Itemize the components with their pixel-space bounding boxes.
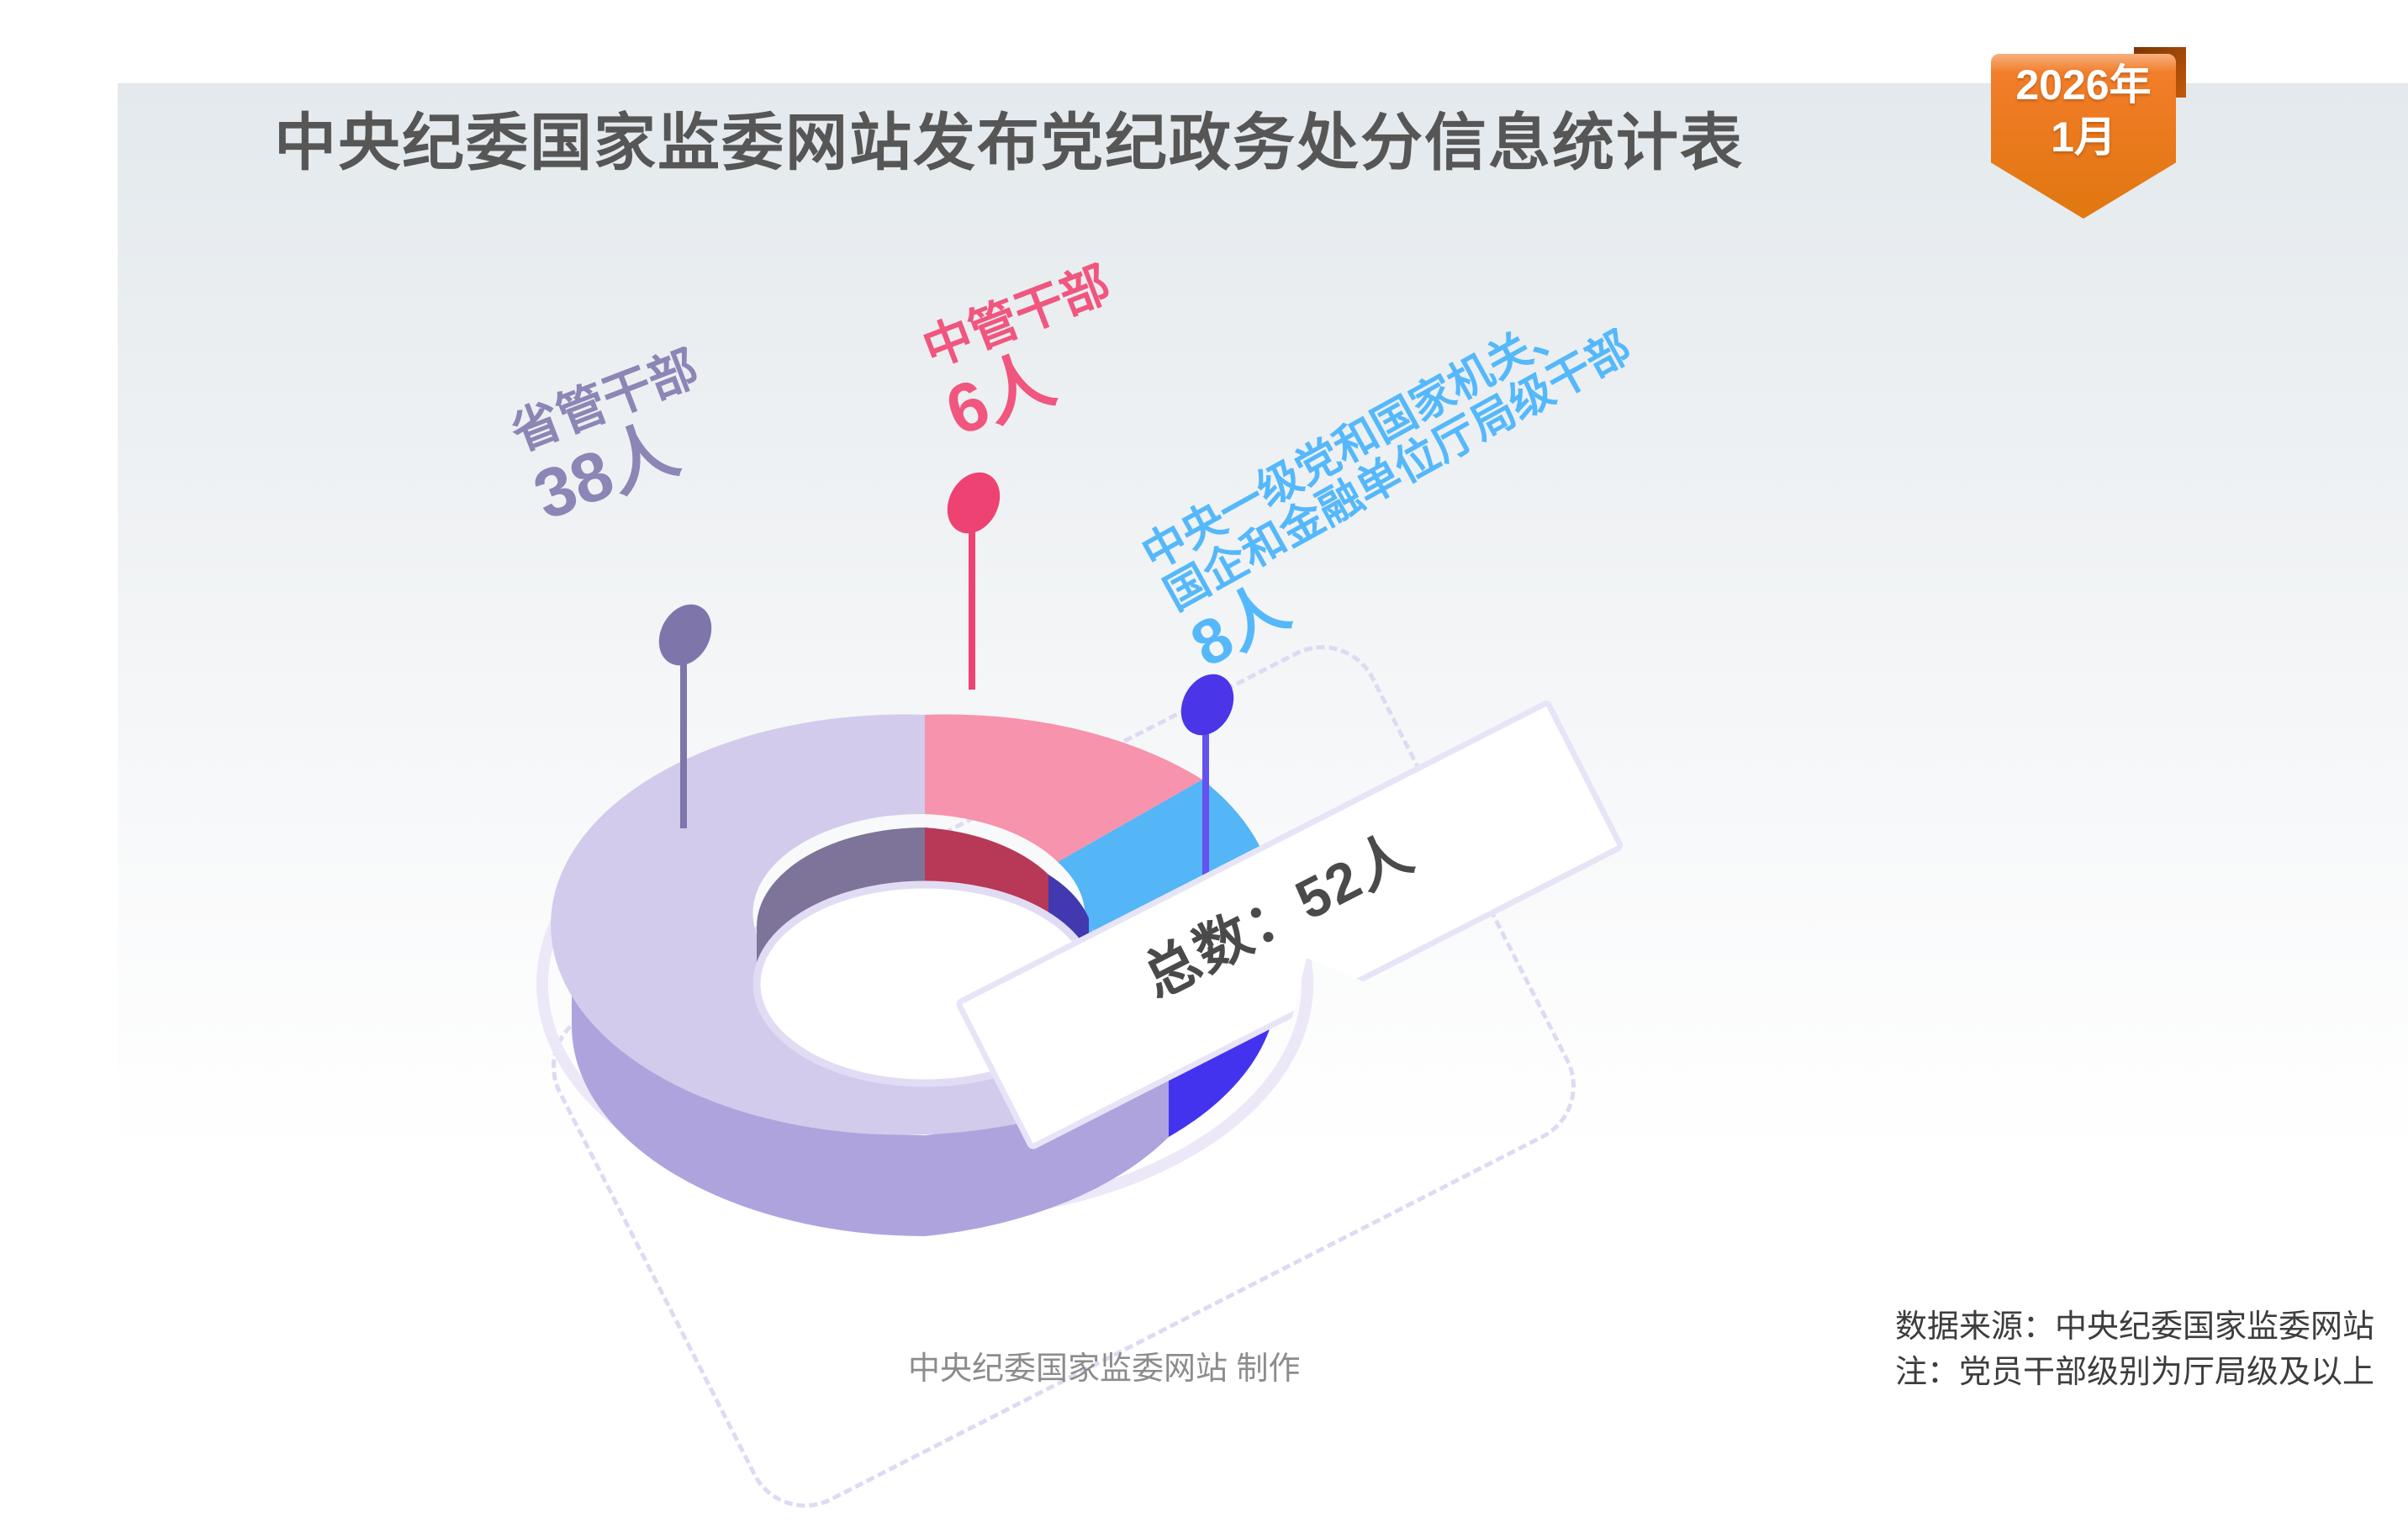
date-badge: 2026年 1月 [1991, 47, 2186, 224]
data-source: 数据来源：中央纪委国家监委网站 [1895, 1305, 2374, 1351]
footer-notes: 数据来源：中央纪委国家监委网站 注：党员干部级别为厅局级及以上 [1895, 1305, 2374, 1396]
footnote: 注：党员干部级别为厅局级及以上 [1895, 1351, 2374, 1396]
badge-year: 2026年 [1991, 59, 2176, 111]
badge-month: 1月 [1991, 111, 2176, 163]
page-title: 中央纪委国家监委网站发布党纪政务处分信息统计表 [0, 93, 2018, 182]
maker-credit: 中央纪委国家监委网站 制作 [908, 1342, 1301, 1388]
badge-text: 2026年 1月 [1991, 59, 2176, 163]
